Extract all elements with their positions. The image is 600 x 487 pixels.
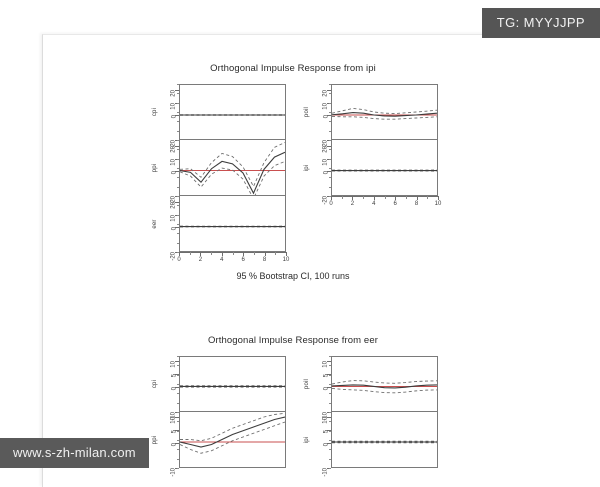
x-tick-minor — [342, 196, 343, 199]
x-tick-minor — [427, 196, 428, 199]
figure-title: Orthogonal Impulse Response from ipi — [148, 63, 438, 74]
ci-lower-band — [332, 116, 437, 119]
figure-columns: cpi-2001020ppi-2001020eer-2001020 024681… — [148, 84, 438, 268]
y-tick-label: 10 — [323, 159, 329, 166]
panel-response-label: cpi — [148, 356, 161, 412]
panel-response-label-text: ppi — [152, 164, 158, 173]
panel-stack-right: poil-100510ipi-100510 — [300, 356, 438, 468]
x-tick — [286, 252, 287, 256]
x-tick-label: 4 — [372, 201, 375, 207]
y-tick-label: 10 — [171, 103, 177, 110]
tg-badge: TG: MYYJJPP — [482, 8, 600, 38]
impulse-response-figure-ipi: Orthogonal Impulse Response from ipi cpi… — [148, 63, 438, 281]
irf-panel-poil: poil-2001020 — [300, 84, 438, 140]
panel-response-label-text: cpi — [152, 380, 158, 388]
x-tick — [222, 252, 223, 256]
panel-response-label: ipi — [300, 140, 313, 196]
site-watermark: www.s-zh-milan.com — [0, 438, 149, 468]
x-tick — [417, 196, 418, 200]
panel-response-label: ppi — [148, 140, 161, 196]
ci-lower-band — [180, 422, 285, 453]
panel-response-label: ppi — [148, 412, 161, 468]
x-tick-label: 10 — [435, 201, 442, 207]
figure-column-right: poil-100510ipi-100510 — [300, 356, 438, 468]
y-tick-label: 0 — [323, 387, 329, 390]
irf-panel-ppi: ppi-100510 — [148, 412, 286, 468]
x-tick-minor — [254, 252, 255, 255]
panel-stack-left: cpi-100510ppi-100510 — [148, 356, 286, 468]
irf-response-line — [180, 417, 285, 447]
x-tick — [438, 196, 439, 200]
panel-y-axis: -100510 — [161, 356, 179, 412]
y-tick-label: 10 — [323, 103, 329, 110]
y-tick-label: 0 — [171, 171, 177, 174]
x-tick-label: 2 — [351, 201, 354, 207]
irf-panel-cpi: cpi-2001020 — [148, 84, 286, 140]
figure-column-left: cpi-2001020ppi-2001020eer-2001020 024681… — [148, 84, 286, 268]
panel-plot-area — [179, 140, 286, 196]
impulse-response-figure-eer: Orthogonal Impulse Response from eer cpi… — [148, 335, 438, 468]
y-tick-label: 0 — [171, 227, 177, 230]
panel-plot-area — [179, 356, 286, 412]
panel-plot-area — [331, 356, 438, 412]
panel-chart-svg — [180, 357, 285, 411]
panel-response-label-text: poil — [304, 379, 310, 389]
y-tick-label: 0 — [171, 115, 177, 118]
panel-chart-svg — [180, 412, 285, 467]
panel-plot-area — [179, 196, 286, 252]
irf-response-line — [332, 113, 437, 117]
x-tick-label: 6 — [394, 201, 397, 207]
panel-y-axis: -2001020 — [313, 84, 331, 140]
panel-response-label: poil — [300, 356, 313, 412]
figure-column-left: cpi-100510ppi-100510 — [148, 356, 286, 468]
x-tick-minor — [190, 252, 191, 255]
x-tick-minor — [211, 252, 212, 255]
figure-column-right: poil-2001020ipi-2001020 0246810 — [300, 84, 438, 268]
irf-panel-ipi: ipi-2001020 — [300, 140, 438, 196]
panel-response-label-text: ipi — [304, 165, 310, 172]
irf-panel-ppi: ppi-2001020 — [148, 140, 286, 196]
panel-response-label-text: poil — [304, 107, 310, 117]
x-tick-label: 10 — [283, 257, 290, 263]
panel-chart-svg — [332, 357, 437, 411]
x-axis-left: 0246810 — [179, 252, 286, 268]
panel-response-label-text: cpi — [152, 108, 158, 116]
panel-plot-area — [331, 84, 438, 140]
panel-plot-area — [179, 84, 286, 140]
x-tick — [395, 196, 396, 200]
x-tick-minor — [406, 196, 407, 199]
x-axis-right: 0246810 — [331, 196, 438, 212]
panel-y-axis: -100510 — [313, 356, 331, 412]
panel-response-label-text: ppi — [152, 436, 158, 445]
panel-response-label: cpi — [148, 84, 161, 140]
ci-lower-band — [332, 388, 437, 392]
ci-upper-band — [332, 381, 437, 384]
x-tick-label: 4 — [220, 257, 223, 263]
x-tick-label: 8 — [415, 201, 418, 207]
x-tick-minor — [275, 252, 276, 255]
panel-chart-svg — [180, 85, 285, 139]
y-tick-label: 0 — [171, 387, 177, 390]
y-tick-label: 10 — [171, 159, 177, 166]
panel-y-axis: -2001020 — [313, 140, 331, 196]
panel-y-axis: -2001020 — [161, 140, 179, 196]
x-tick — [265, 252, 266, 256]
panel-chart-svg — [332, 412, 437, 467]
ci-lower-band — [180, 161, 285, 195]
x-tick-label: 2 — [199, 257, 202, 263]
panel-y-axis: -2001020 — [161, 196, 179, 252]
x-tick-label: 8 — [263, 257, 266, 263]
y-tick-minor — [177, 468, 180, 469]
panel-chart-svg — [332, 85, 437, 139]
y-tick-label: -10 — [171, 468, 177, 477]
y-tick-label: 10 — [171, 215, 177, 222]
x-tick — [179, 252, 180, 256]
figure-subtitle: 95 % Bootstrap CI, 100 runs — [148, 271, 438, 281]
x-tick — [200, 252, 201, 256]
figure-columns: cpi-100510ppi-100510 poil-100510ipi-1005… — [148, 356, 438, 468]
x-tick-label: 0 — [329, 201, 332, 207]
panel-response-label: eer — [148, 196, 161, 252]
panel-response-label-text: eer — [152, 219, 158, 228]
x-tick — [331, 196, 332, 200]
panel-response-label: ipi — [300, 412, 313, 468]
irf-panel-ipi: ipi-100510 — [300, 412, 438, 468]
panel-response-label: poil — [300, 84, 313, 140]
panel-y-axis: -100510 — [313, 412, 331, 468]
panel-y-axis: -2001020 — [161, 84, 179, 140]
panel-y-axis: -100510 — [161, 412, 179, 468]
y-tick-label: 0 — [171, 443, 177, 446]
y-tick-label: -10 — [323, 468, 329, 477]
figure-title: Orthogonal Impulse Response from eer — [148, 335, 438, 346]
y-tick-label: 0 — [323, 443, 329, 446]
panel-plot-area — [331, 412, 438, 468]
y-tick-label: -20 — [323, 196, 329, 205]
panel-plot-area — [179, 412, 286, 468]
irf-panel-poil: poil-100510 — [300, 356, 438, 412]
x-tick — [243, 252, 244, 256]
panel-response-label-text: ipi — [304, 437, 310, 444]
ci-upper-band — [180, 413, 285, 441]
y-tick-label: 0 — [323, 115, 329, 118]
irf-panel-cpi: cpi-100510 — [148, 356, 286, 412]
document-page: Orthogonal Impulse Response from ipi cpi… — [42, 34, 599, 487]
panel-chart-svg — [332, 140, 437, 195]
y-tick-minor — [329, 468, 332, 469]
x-tick-minor — [385, 196, 386, 199]
y-tick-label: -20 — [171, 252, 177, 261]
panel-chart-svg — [180, 196, 285, 251]
irf-panel-eer: eer-2001020 — [148, 196, 286, 252]
x-tick-minor — [363, 196, 364, 199]
panel-stack-right: poil-2001020ipi-2001020 — [300, 84, 438, 196]
x-tick-label: 0 — [177, 257, 180, 263]
x-tick-label: 6 — [242, 257, 245, 263]
x-tick-minor — [233, 252, 234, 255]
x-tick — [352, 196, 353, 200]
y-tick-label: 0 — [323, 171, 329, 174]
panel-stack-left: cpi-2001020ppi-2001020eer-2001020 — [148, 84, 286, 252]
x-tick — [374, 196, 375, 200]
panel-chart-svg — [180, 140, 285, 195]
panel-plot-area — [331, 140, 438, 196]
